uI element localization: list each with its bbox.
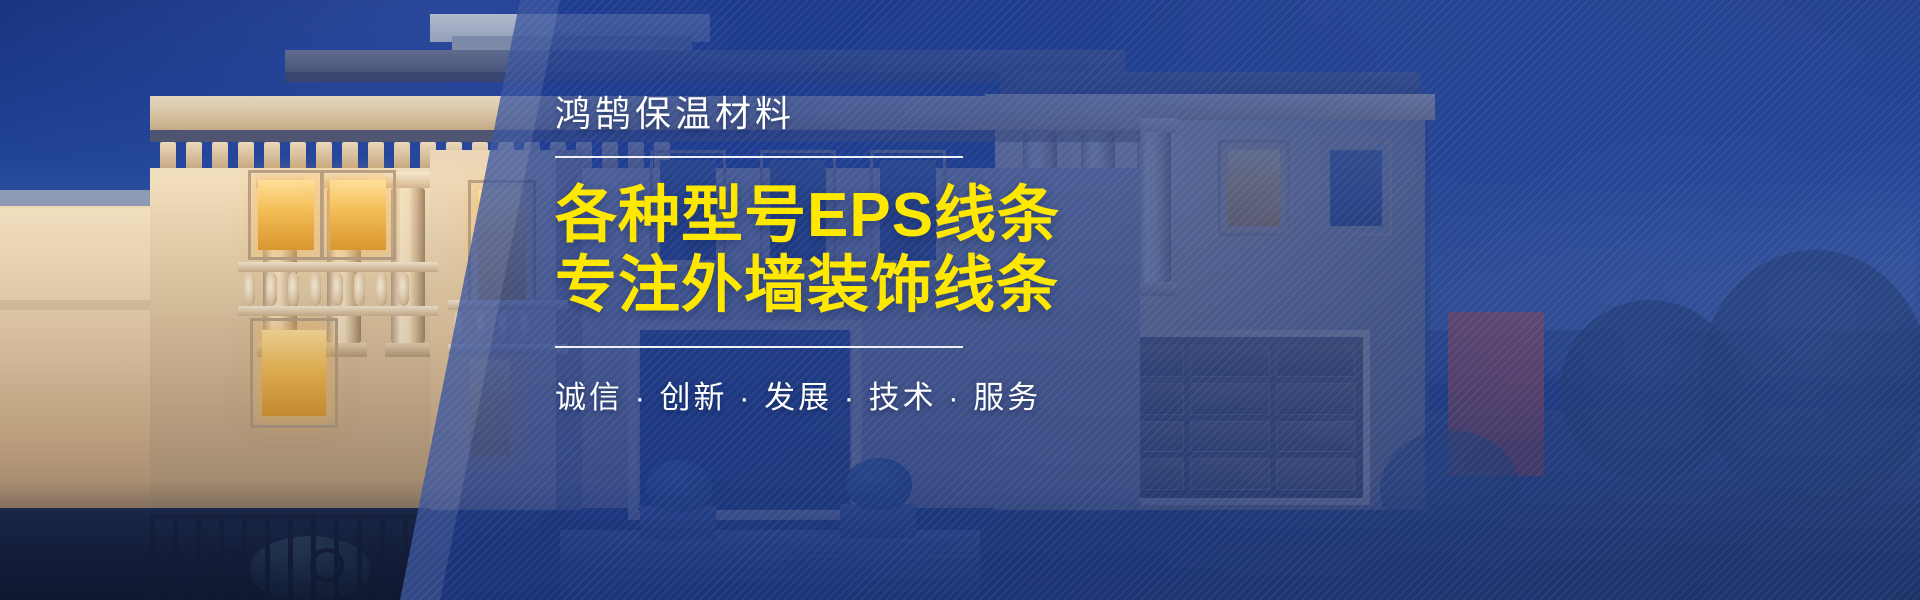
headline-line-2: 专注外墙装饰线条 — [555, 254, 1315, 318]
divider-bottom — [555, 346, 963, 348]
promo-banner: 鸿鹄保温材料 各种型号EPS线条 专注外墙装饰线条 诚信 · 创新 · 发展 ·… — [0, 0, 1920, 600]
banner-text-block: 鸿鹄保温材料 各种型号EPS线条 专注外墙装饰线条 诚信 · 创新 · 发展 ·… — [555, 96, 1315, 417]
headline-line-1: 各种型号EPS线条 — [555, 184, 1315, 248]
tagline: 诚信 · 创新 · 发展 · 技术 · 服务 — [555, 372, 1315, 417]
divider-top — [555, 156, 963, 158]
brand-name: 鸿鹄保温材料 — [555, 96, 1315, 132]
